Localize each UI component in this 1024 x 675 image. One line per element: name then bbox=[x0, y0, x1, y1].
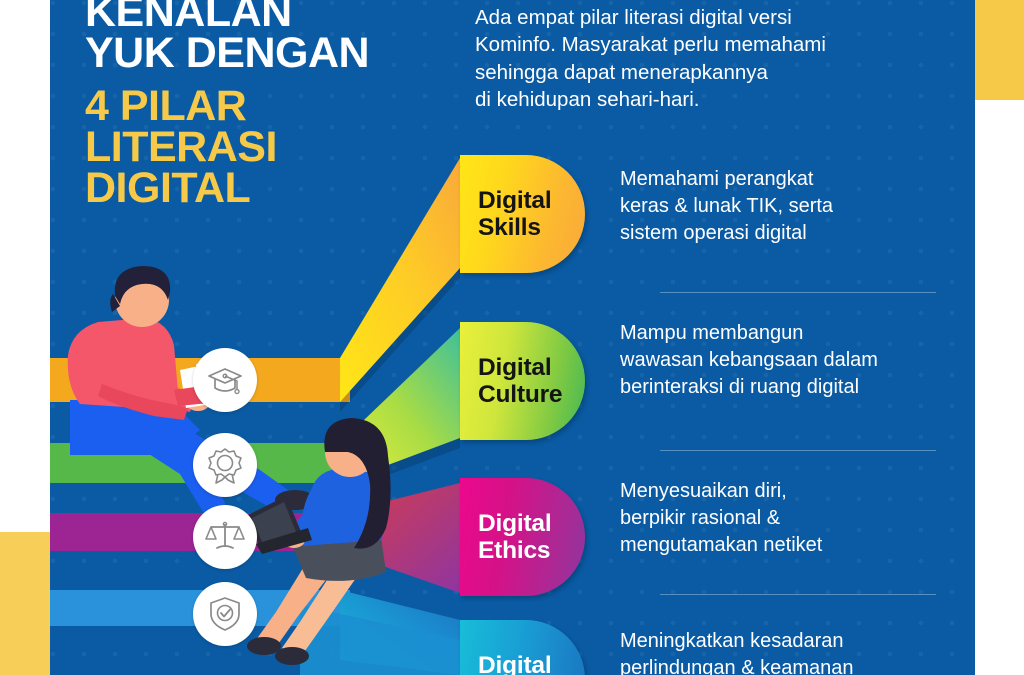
badge-line-1: Digital bbox=[478, 510, 585, 537]
badge-line-1: Digital bbox=[478, 354, 585, 381]
headline-line-5: DIGITAL bbox=[85, 168, 485, 209]
decoration-block-top-right bbox=[975, 0, 1024, 100]
headline-line-3: 4 PILAR bbox=[85, 86, 485, 127]
pillar-badge-digital-culture[interactable]: Digital Culture bbox=[460, 322, 585, 440]
desc-line-1: Memahami perangkat bbox=[620, 166, 950, 193]
pillar-description-digital-safety: Meningkatkan kesadaran perlindungan & ke… bbox=[620, 628, 950, 675]
desc-line-3: sistem operasi digital bbox=[620, 220, 950, 247]
desc-line-2: keras & lunak TIK, serta bbox=[620, 193, 950, 220]
intro-line-1: Ada empat pilar literasi digital versi bbox=[475, 4, 955, 31]
desc-line-3: mengutamakan netiket bbox=[620, 532, 950, 559]
award-ribbon-icon-circle[interactable] bbox=[193, 433, 257, 497]
graduation-cap-icon-circle[interactable] bbox=[193, 348, 257, 412]
decoration-block-bottom-left bbox=[0, 532, 52, 675]
desc-line-1: Meningkatkan kesadaran bbox=[620, 628, 950, 655]
scales-of-justice-icon bbox=[205, 517, 245, 557]
desc-line-1: Menyesuaikan diri, bbox=[620, 478, 950, 505]
desc-line-1: Mampu membangun bbox=[620, 320, 950, 347]
intro-line-2: Kominfo. Masyarakat perlu memahami bbox=[475, 31, 955, 58]
divider-2 bbox=[660, 450, 936, 451]
award-ribbon-icon bbox=[205, 445, 245, 485]
pillar-description-digital-culture: Mampu membangun wawasan kebangsaan dalam… bbox=[620, 320, 950, 402]
desc-line-2: wawasan kebangsaan dalam bbox=[620, 347, 950, 374]
shield-check-icon bbox=[205, 594, 245, 634]
headline-line-1: KENALAN bbox=[85, 0, 485, 33]
divider-3 bbox=[660, 594, 936, 595]
desc-line-3: berinteraksi di ruang digital bbox=[620, 374, 950, 401]
badge-line-2: Culture bbox=[478, 381, 585, 408]
graduation-cap-icon bbox=[205, 360, 245, 400]
scales-of-justice-icon-circle[interactable] bbox=[193, 505, 257, 569]
pillar-badge-digital-ethics[interactable]: Digital Ethics bbox=[460, 478, 585, 596]
badge-line-1: Digital bbox=[478, 187, 585, 214]
shield-check-icon-circle[interactable] bbox=[193, 582, 257, 646]
badge-line-2: Skills bbox=[478, 214, 585, 241]
badge-line-2: Ethics bbox=[478, 537, 585, 564]
badge-line-1: Digital bbox=[478, 652, 585, 675]
desc-line-2: berpikir rasional & bbox=[620, 505, 950, 532]
pillar-description-digital-skills: Memahami perangkat keras & lunak TIK, se… bbox=[620, 166, 950, 248]
intro-line-4: di kehidupan sehari-hari. bbox=[475, 86, 955, 113]
divider-1 bbox=[660, 292, 936, 293]
main-blue-panel: KENALAN YUK DENGAN 4 PILAR LITERASI DIGI… bbox=[50, 0, 975, 675]
intro-paragraph: Ada empat pilar literasi digital versi K… bbox=[475, 4, 955, 113]
headline-line-4: LITERASI bbox=[85, 127, 485, 168]
pillar-description-digital-ethics: Menyesuaikan diri, berpikir rasional & m… bbox=[620, 478, 950, 560]
intro-line-3: sehingga dapat menerapkannya bbox=[475, 59, 955, 86]
page-title: KENALAN YUK DENGAN 4 PILAR LITERASI DIGI… bbox=[85, 0, 485, 209]
pillar-badge-digital-skills[interactable]: Digital Skills bbox=[460, 155, 585, 273]
headline-line-2: YUK DENGAN bbox=[85, 33, 485, 74]
desc-line-2: perlindungan & keamanan bbox=[620, 655, 950, 675]
infographic-canvas: KENALAN YUK DENGAN 4 PILAR LITERASI DIGI… bbox=[0, 0, 1024, 675]
